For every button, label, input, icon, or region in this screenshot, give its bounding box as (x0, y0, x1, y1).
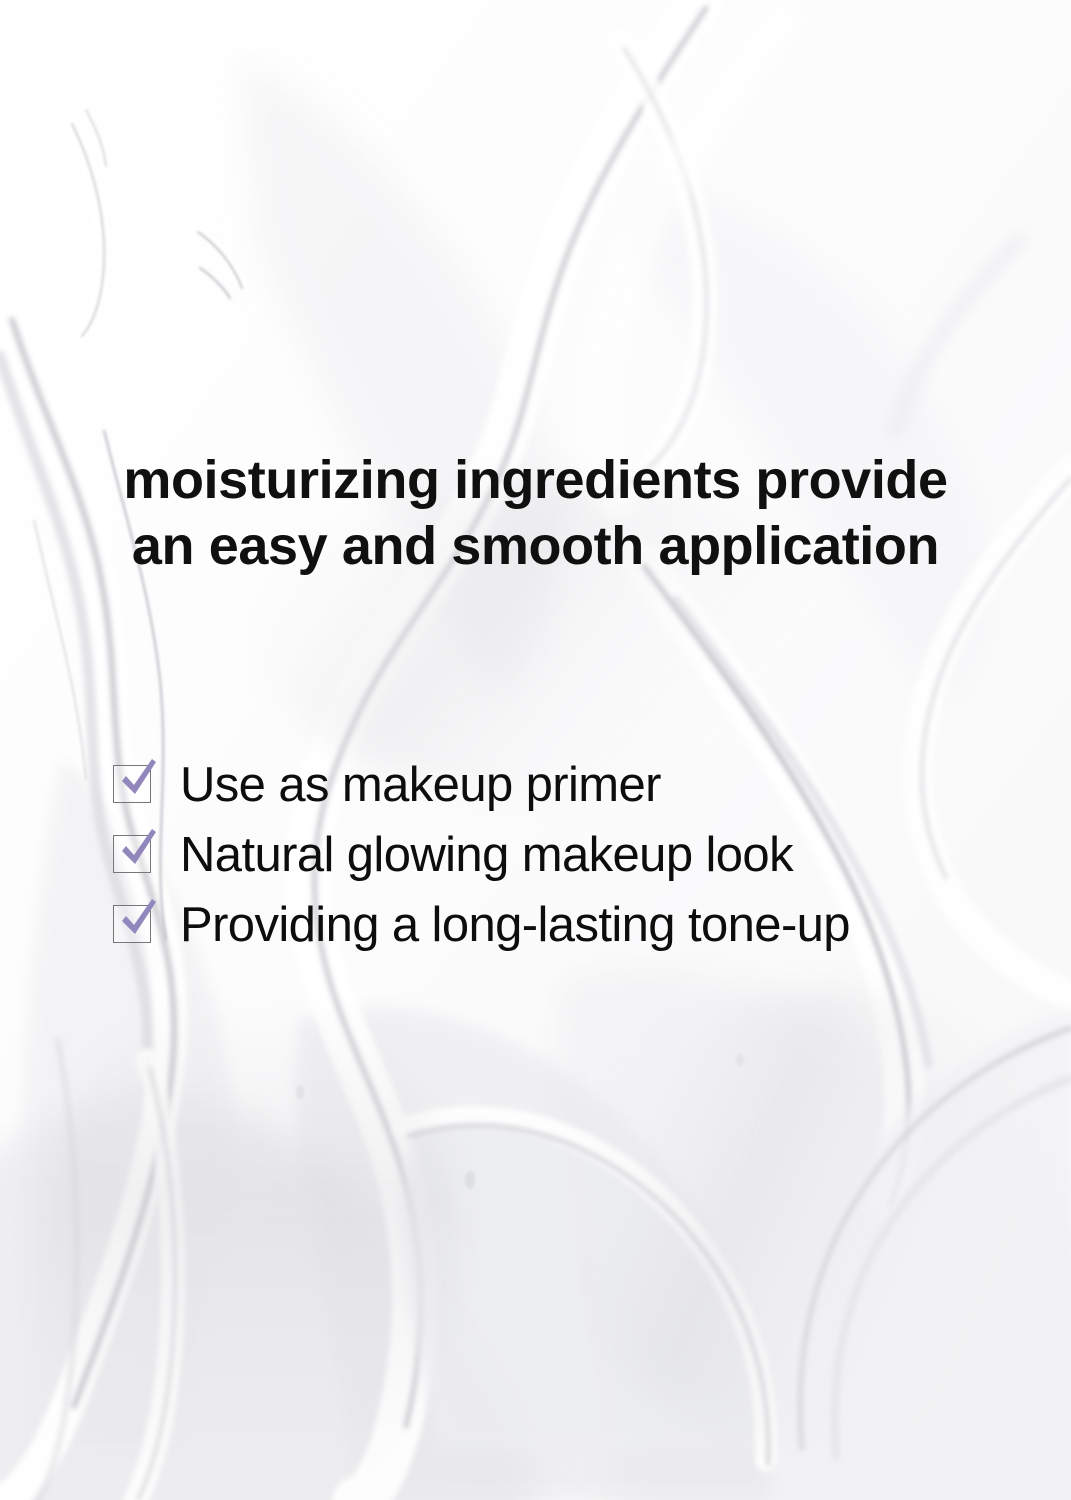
checkbox-checked-icon (113, 835, 151, 873)
list-item: Natural glowing makeup look (113, 827, 850, 897)
checkbox-checked-icon (113, 765, 151, 803)
headline-line-1: moisturizing ingredients provide (0, 447, 1071, 513)
list-item-label: Natural glowing makeup look (180, 827, 793, 883)
headline: moisturizing ingredients provide an easy… (0, 447, 1071, 579)
list-item: Use as makeup primer (113, 757, 850, 827)
list-item-label: Providing a long-lasting tone-up (180, 897, 850, 953)
checkbox-checked-icon (113, 905, 151, 943)
list-item: Providing a long-lasting tone-up (113, 897, 850, 967)
headline-line-2: an easy and smooth application (0, 513, 1071, 579)
cream-texture-background (0, 0, 1071, 1500)
product-feature-banner: moisturizing ingredients provide an easy… (0, 0, 1071, 1500)
feature-list: Use as makeup primer Natural glowing mak… (113, 757, 850, 967)
list-item-label: Use as makeup primer (180, 757, 661, 813)
